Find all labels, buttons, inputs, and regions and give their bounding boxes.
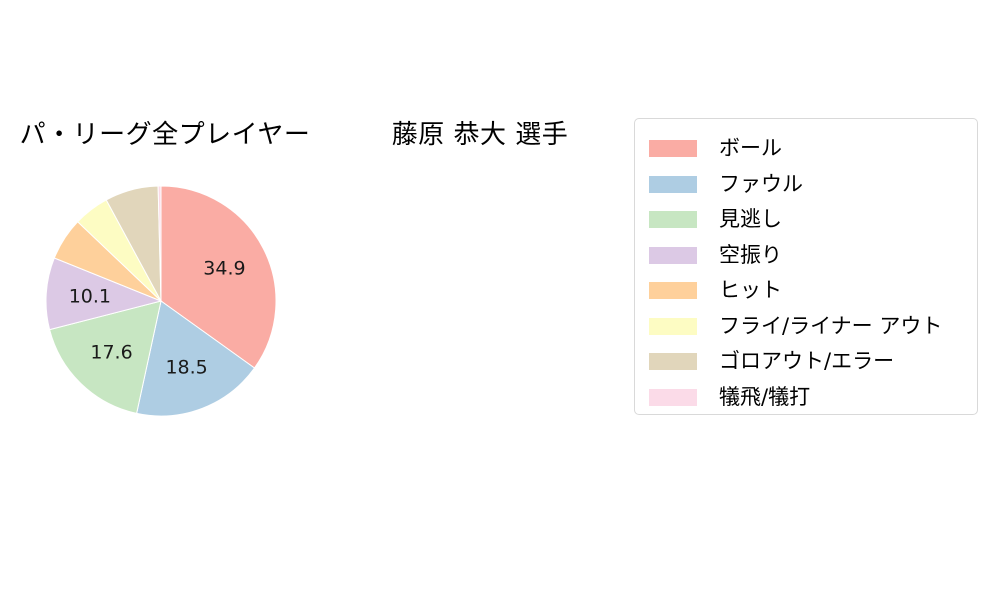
legend-item[interactable]: ヒット bbox=[649, 273, 963, 309]
chart-title-right: 藤原 恭大 選手 bbox=[330, 122, 630, 148]
legend-swatch-icon bbox=[649, 389, 697, 406]
legend-item-label: 見逃し bbox=[719, 209, 782, 230]
legend-item-label: ゴロアウト/エラー bbox=[719, 351, 894, 372]
legend-swatch-icon bbox=[649, 176, 697, 193]
legend-item[interactable]: ゴロアウト/エラー bbox=[649, 344, 963, 380]
legend-swatch-icon bbox=[649, 282, 697, 299]
chart-panel-right: 藤原 恭大 選手 35.018.420.08.9 bbox=[330, 0, 630, 600]
legend-item[interactable]: ボール bbox=[649, 131, 963, 167]
legend-swatch-icon bbox=[649, 353, 697, 370]
legend-swatch-icon bbox=[649, 247, 697, 264]
legend-item[interactable]: フライ/ライナー アウト bbox=[649, 309, 963, 345]
pie-chart-left[interactable]: 34.918.517.610.1 bbox=[45, 185, 277, 417]
pie-slice-label: 34.9 bbox=[203, 257, 245, 279]
legend-item[interactable]: 見逃し bbox=[649, 202, 963, 238]
pie-slice-label: 10.1 bbox=[69, 285, 111, 307]
pie-svg-left: 34.918.517.610.1 bbox=[45, 185, 277, 417]
legend-item-label: ヒット bbox=[719, 280, 782, 301]
figure-root: パ・リーグ全プレイヤー 34.918.517.610.1 藤原 恭大 選手 35… bbox=[0, 0, 1000, 600]
legend-item[interactable]: 犠飛/犠打 bbox=[649, 380, 963, 416]
legend-item-label: 犠飛/犠打 bbox=[719, 387, 810, 408]
legend-item-label: ボール bbox=[719, 138, 782, 159]
legend: ボールファウル見逃し空振りヒットフライ/ライナー アウトゴロアウト/エラー犠飛/… bbox=[634, 118, 978, 415]
chart-panel-left: パ・リーグ全プレイヤー 34.918.517.610.1 bbox=[0, 0, 330, 600]
legend-swatch-icon bbox=[649, 318, 697, 335]
chart-title-left: パ・リーグ全プレイヤー bbox=[0, 122, 330, 148]
legend-item[interactable]: ファウル bbox=[649, 167, 963, 203]
pie-slice-label: 18.5 bbox=[165, 357, 207, 379]
legend-item-label: ファウル bbox=[719, 174, 803, 195]
legend-item-label: 空振り bbox=[719, 245, 782, 266]
legend-swatch-icon bbox=[649, 140, 697, 157]
pie-slice-label: 17.6 bbox=[90, 341, 132, 363]
legend-item[interactable]: 空振り bbox=[649, 238, 963, 274]
legend-item-label: フライ/ライナー アウト bbox=[719, 316, 942, 337]
legend-swatch-icon bbox=[649, 211, 697, 228]
